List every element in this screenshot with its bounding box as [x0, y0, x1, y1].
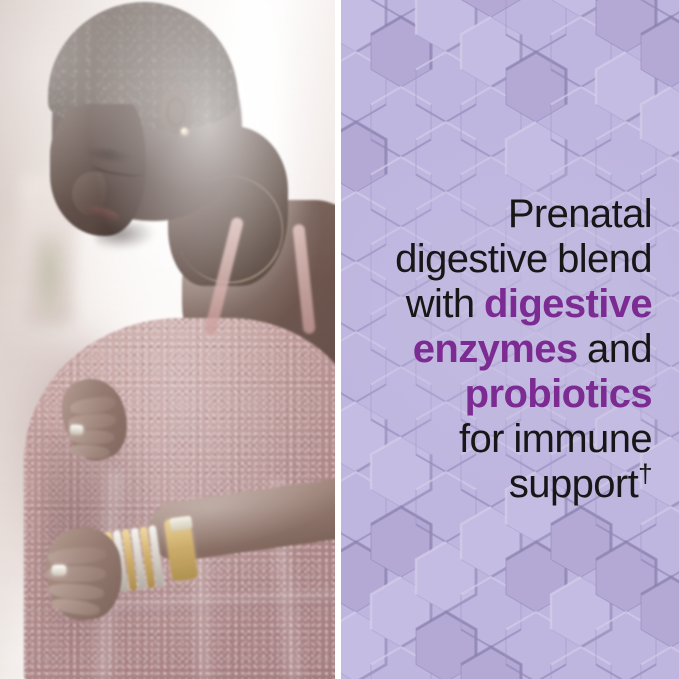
headline-accent-enzymes: enzymes	[413, 327, 578, 371]
headline-accent-digestive: digestive	[484, 282, 652, 326]
headline-line-7-text: support	[509, 462, 638, 506]
headline-line-1-text: Prenatal	[508, 192, 652, 236]
headline-line-5: probiotics	[361, 372, 652, 417]
headline-line-3: with digestive	[361, 282, 652, 327]
silver-ring-lower	[52, 565, 66, 575]
headline-line-7: support†	[361, 462, 652, 507]
headline-line-6: for immune	[361, 417, 652, 462]
photo-background-plant	[34, 236, 64, 326]
headline-accent-probiotics: probiotics	[465, 372, 652, 416]
headline-line-2-text: digestive blend	[395, 237, 652, 281]
lifestyle-photo	[0, 0, 335, 679]
headline-line-2: digestive blend	[361, 237, 652, 282]
headline-line-4: enzymes and	[361, 327, 652, 372]
subject-ear-inner	[167, 98, 185, 126]
product-image-canvas: Prenatal digestive blend with digestive …	[0, 0, 679, 679]
silver-ring-upper	[70, 425, 84, 435]
headline-line-1: Prenatal	[361, 192, 652, 237]
stud-earring	[181, 128, 188, 135]
headline-line-6-text: for immune	[459, 417, 652, 461]
headline-line-3-plain: with	[406, 282, 484, 326]
marketing-claim-panel: Prenatal digestive blend with digestive …	[341, 0, 679, 679]
headline-line-4-plain: and	[578, 327, 652, 371]
claim-headline: Prenatal digestive blend with digestive …	[361, 192, 652, 507]
footnote-dagger-marker: †	[638, 459, 652, 489]
subject-chin-shadow	[96, 222, 156, 250]
